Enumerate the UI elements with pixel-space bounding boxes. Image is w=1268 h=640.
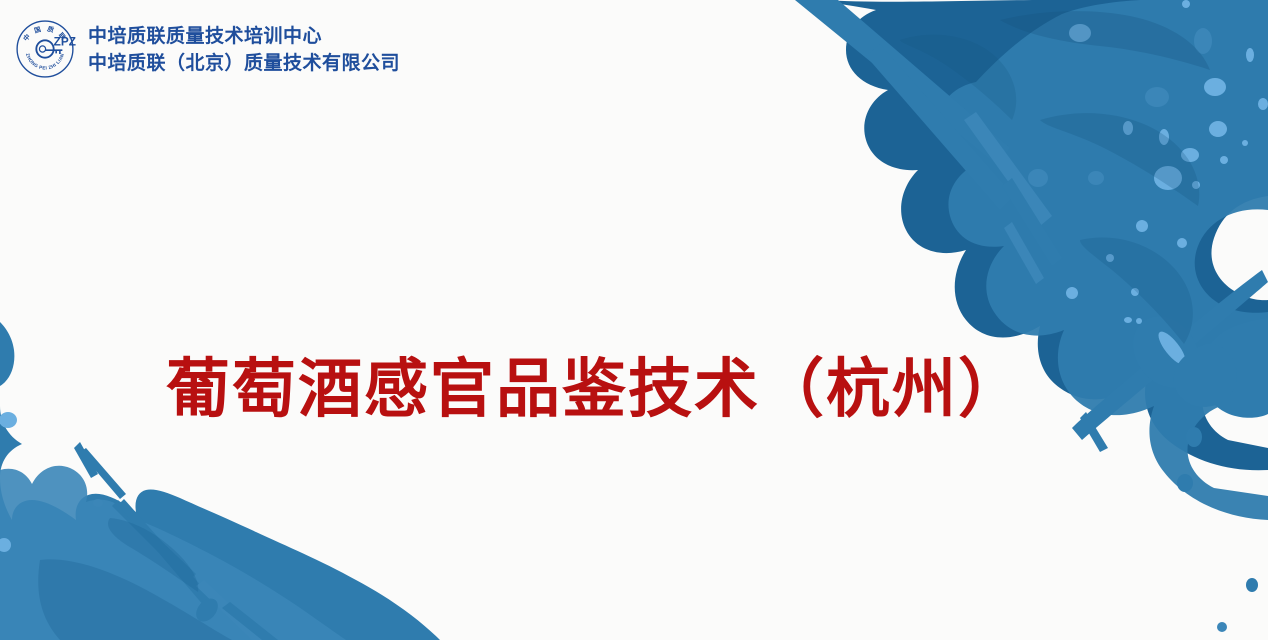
splash-streak-3 [964, 112, 1052, 226]
splash-top-right-shading [1000, 11, 1210, 70]
splash-droplet [1242, 140, 1248, 146]
seal-arc-bottom-text: ZHONG PEI ZHI LIAN [25, 52, 65, 70]
splash-droplet [1136, 318, 1142, 324]
splash-droplet [1177, 474, 1193, 492]
splash-droplet [1204, 78, 1226, 96]
splash-droplet [1192, 181, 1200, 189]
splash-streak-4 [1002, 178, 1062, 266]
splash-droplet [1217, 622, 1227, 632]
splash-droplet [1246, 48, 1254, 62]
splash-droplet [1246, 578, 1258, 592]
splash-droplet [1194, 28, 1212, 54]
splash-top-right-shading-2 [1040, 113, 1199, 206]
splash-top-right-shading-3 [1080, 238, 1193, 344]
splash-droplet [1177, 238, 1187, 248]
title-block: 葡萄酒感官品鉴技术（杭州） [0, 356, 1190, 423]
splash-streak-bl-2 [112, 500, 196, 582]
zpzl-circular-seal-logo: ZPZL 中 国 质 联 ZHONG PEI ZHI LIAN [14, 18, 76, 80]
splash-droplet [1145, 87, 1169, 107]
splash-top-right-shading-4 [900, 35, 1016, 120]
splash-streak-5 [1004, 222, 1044, 284]
splash-droplet [1028, 169, 1048, 187]
splash-droplet [1154, 166, 1182, 190]
splash-right-lobe [1201, 318, 1268, 418]
splash-droplet [1181, 148, 1199, 162]
splash-streak-bl-5 [80, 448, 126, 499]
seal-inner-dot [39, 46, 45, 52]
splash-droplet [1069, 24, 1091, 42]
brand-header: ZPZL 中 国 质 联 ZHONG PEI ZHI LIAN 中培质联质量技术… [14, 18, 400, 80]
splash-droplet [1131, 288, 1139, 296]
splash-droplet [1220, 156, 1228, 164]
splash-droplet [93, 499, 103, 507]
splash-droplet [1106, 254, 1114, 262]
page-title: 葡萄酒感官品鉴技术（杭州） [166, 356, 1024, 423]
blue-watercolor-splash-decoration [0, 0, 1268, 640]
splash-bottom-left-midlayer [0, 466, 346, 640]
splash-droplet [1124, 317, 1132, 323]
splash-bottom-left-shading-2 [108, 518, 198, 592]
splash-bottom-left-shading [38, 559, 232, 640]
splash-droplet [1088, 171, 1104, 185]
splash-droplet [1182, 0, 1190, 8]
splash-streak-bl-3 [118, 499, 212, 606]
splash-streak-2 [866, 44, 1014, 210]
splash-streak-bl-1 [74, 442, 98, 478]
splash-droplet [1123, 121, 1133, 135]
splash-droplet [1186, 427, 1202, 447]
splash-streak-1 [795, 0, 1010, 164]
splash-droplet [1209, 121, 1227, 137]
splash-streak-bl-6 [222, 602, 278, 640]
splash-droplet [192, 594, 223, 625]
brand-line-training-center: 中培质联质量技术培训中心 [88, 25, 400, 49]
splash-droplet [0, 538, 11, 552]
splash-streak-bl-4 [196, 580, 268, 640]
splash-top-right-midlayer-1 [938, 0, 1268, 520]
splash-droplet [1159, 129, 1169, 145]
splash-droplet [1136, 220, 1148, 232]
splash-droplet [1258, 98, 1268, 110]
splash-droplet [1066, 287, 1078, 299]
title-slide: ZPZL 中 国 质 联 ZHONG PEI ZHI LIAN 中培质联质量技术… [0, 0, 1268, 640]
brand-line-company: 中培质联（北京）质量技术有限公司 [88, 52, 400, 76]
brand-name-block: 中培质联质量技术培训中心 中培质联（北京）质量技术有限公司 [88, 23, 400, 76]
